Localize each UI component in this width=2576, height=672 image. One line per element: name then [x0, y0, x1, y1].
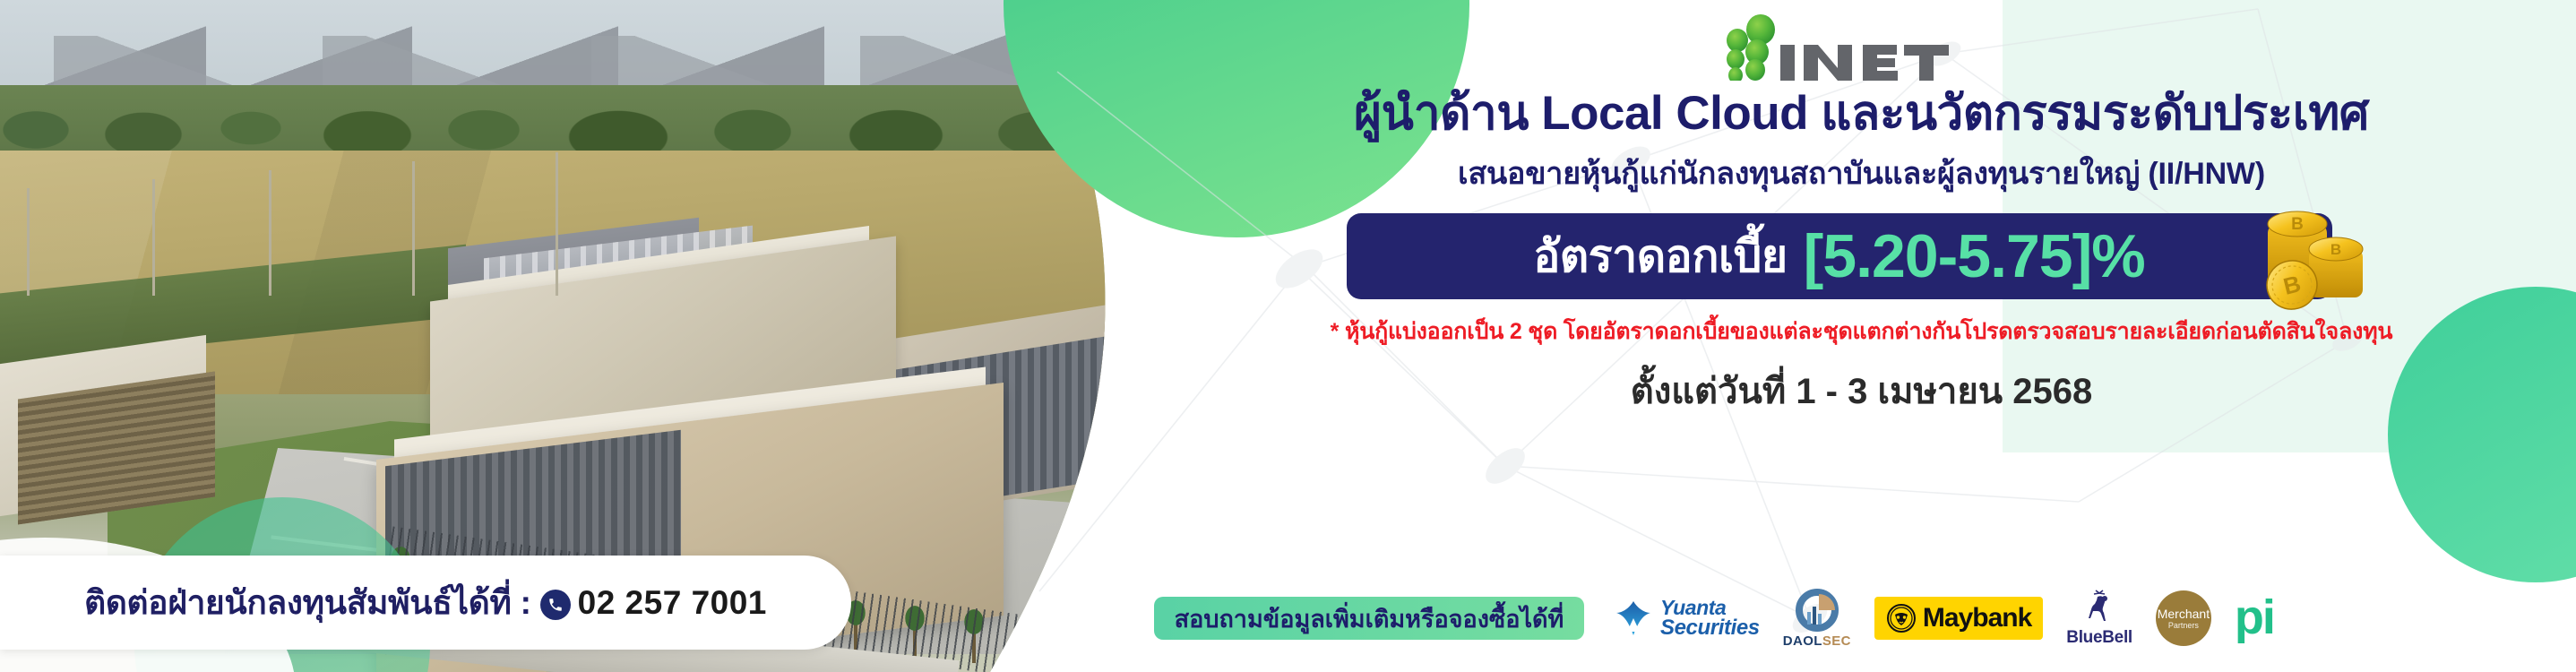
- svg-text:B: B: [2291, 215, 2304, 234]
- inet-dots-logo: [1714, 13, 2010, 81]
- bluebell-wordmark: BlueBell: [2066, 628, 2132, 648]
- page-headline: ผู้นำด้าน Local Cloud และนวัตกรรมระดับปร…: [1354, 88, 2369, 140]
- bluebell-deer-icon: [2080, 590, 2119, 627]
- interest-rate-box: อัตราดอกเบี้ย [5.20-5.75]%: [1347, 213, 2332, 299]
- partner-logo-daol[interactable]: DAOLSEC: [1783, 589, 1851, 649]
- partner-logo-pi[interactable]: pi: [2235, 599, 2274, 637]
- contact-phone-number[interactable]: 02 257 7001: [578, 584, 767, 622]
- investor-relations-contact[interactable]: ติดต่อฝ่ายนักลงทุนสัมพันธ์ได้ที่ : 02 25…: [0, 556, 851, 650]
- contact-label: ติดต่อฝ่ายนักลงทุนสัมพันธ์ได้ที่ :: [84, 576, 531, 629]
- inet-logo: [1714, 13, 2010, 81]
- partner-logo-yuanta[interactable]: Yuanta Securities: [1615, 599, 1760, 639]
- phone-icon: [540, 590, 571, 620]
- yuanta-star-icon: [1615, 599, 1652, 637]
- maybank-wordmark: Maybank: [1923, 603, 2031, 633]
- offer-period: ตั้งแต่วันที่ 1 - 3 เมษายน 2568: [1631, 362, 2092, 419]
- interest-rate-value: [5.20-5.75]%: [1804, 221, 2145, 291]
- inquire-subscribe-button[interactable]: สอบถามข้อมูลเพิ่มเติมหรือจองซื้อได้ที่: [1154, 597, 1584, 640]
- interest-rate-label: อัตราดอกเบี้ย: [1533, 221, 1787, 292]
- partner-logo-merchant[interactable]: Merchant Partners: [2156, 590, 2211, 646]
- footer-row: สอบถามข้อมูลเพิ่มเติมหรือจองซื้อได้ที่: [1147, 587, 2576, 650]
- merchant-word2: Partners: [2168, 622, 2199, 630]
- merchant-word1: Merchant: [2158, 607, 2210, 620]
- content-column: ผู้นำด้าน Local Cloud และนวัตกรรมระดับปร…: [1147, 0, 2576, 672]
- interest-rate-block: อัตราดอกเบี้ย [5.20-5.75]%: [1347, 213, 2377, 299]
- daol-word2: SEC: [1822, 633, 1851, 649]
- svg-text:B: B: [2330, 241, 2340, 258]
- bitcoin-coins-icon: B B B: [2243, 199, 2377, 312]
- photo-utility-poles: [0, 152, 627, 385]
- partner-logo-maybank[interactable]: Maybank: [1874, 597, 2043, 640]
- page-subheadline: เสนอขายหุ้นกู้แก่นักลงทุนสถาบันและผู้ลงท…: [1458, 149, 2265, 197]
- partner-logos: Yuanta Securities DAOLSEC: [1615, 589, 2274, 649]
- daol-pie-icon: [1793, 589, 1841, 632]
- daol-word1: DAOL: [1783, 633, 1822, 649]
- promo-banner: ติดต่อฝ่ายนักลงทุนสัมพันธ์ได้ที่ : 02 25…: [0, 0, 2576, 672]
- rate-disclaimer: * หุ้นกู้แบ่งออกเป็น 2 ชุด โดยอัตราดอกเบ…: [1331, 314, 2393, 349]
- partner-logo-bluebell[interactable]: BlueBell: [2066, 590, 2132, 648]
- yuanta-line2: Securities: [1660, 618, 1760, 639]
- maybank-tiger-icon: [1886, 603, 1917, 633]
